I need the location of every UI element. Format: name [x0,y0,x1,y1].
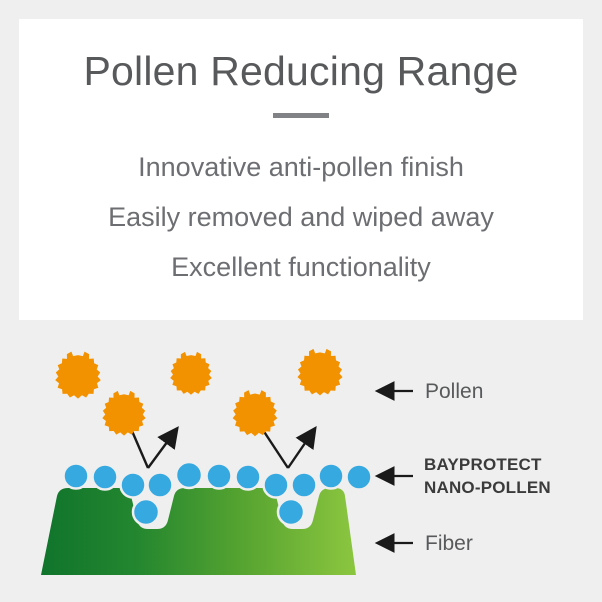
pollen-particle [55,352,101,399]
pollen-particles [55,349,342,436]
feature-line-1: Innovative anti-pollen finish [19,142,583,192]
page-title: Pollen Reducing Range [19,49,583,94]
label-bayprotect-nano-pollen: BAYPROTECT NANO-POLLEN [424,453,551,499]
nano-circle [319,464,344,489]
nano-circle [121,473,146,498]
nano-circle [236,465,261,490]
label-pollen: Pollen [425,380,483,404]
title-divider [273,113,329,118]
nano-circle [292,473,317,498]
nano-circle [148,473,173,498]
bounce-arrow-outgoing [288,430,314,468]
label-bayprotect-line1: BAYPROTECT [424,453,551,476]
bounce-arrows [129,424,314,468]
nano-circle [64,464,89,489]
fiber-shape [41,488,356,575]
nano-circle [278,499,304,525]
infographic-page: Pollen Reducing Range Innovative anti-po… [0,0,602,602]
nano-circle [93,465,118,490]
label-fiber: Fiber [425,532,473,556]
nano-circle [176,462,202,488]
label-bayprotect-line2: NANO-POLLEN [424,476,551,499]
nano-circle [133,499,159,525]
fiber-body [41,488,356,575]
feature-line-3: Excellent functionality [19,242,583,292]
nano-circle [264,473,289,498]
pollen-particle [102,391,145,436]
pollen-particle [170,352,212,395]
pollen-particle [233,390,278,436]
fiber-coating-diagram: Pollen BAYPROTECT NANO-POLLEN Fiber [0,320,602,602]
feature-line-2: Easily removed and wiped away [19,192,583,242]
bounce-arrow-outgoing [148,430,176,468]
nano-circle [207,464,232,489]
nano-circle [347,465,372,490]
hero-card: Pollen Reducing Range Innovative anti-po… [19,19,583,320]
pollen-particle [297,349,342,396]
feature-list: Innovative anti-pollen finish Easily rem… [19,142,583,292]
label-pointer-arrows [378,391,413,543]
